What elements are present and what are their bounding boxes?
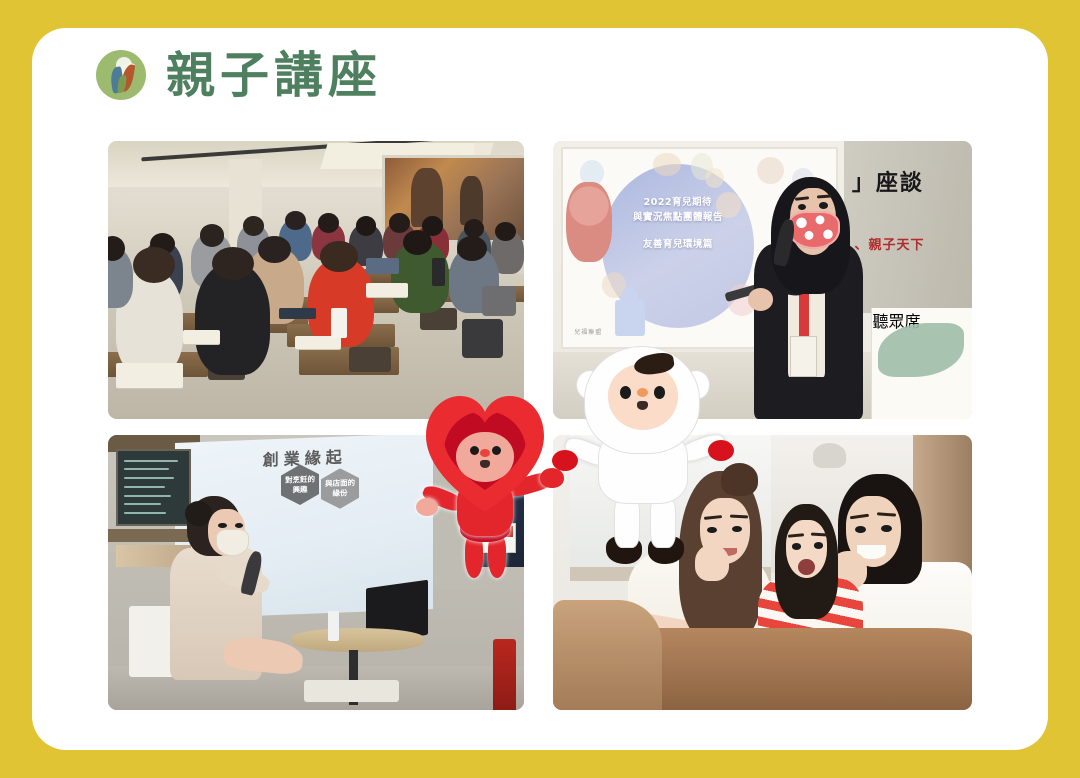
workshop-slide-hexagon-2: 與店面的緣份 xyxy=(320,467,359,509)
photo-speaker-presentation-image: 」座談 、親子天下 00 聽眾席 xyxy=(553,141,972,419)
slide-text: 2022育兒期待 與實況焦點團體報告 友善育兒環境篇 xyxy=(607,196,749,252)
backdrop-subline: 、親子天下 xyxy=(855,234,925,253)
chalkboard-menu xyxy=(116,449,191,526)
photo-speaker-presentation[interactable]: 」座談 、親子天下 00 聽眾席 xyxy=(553,141,972,419)
event-backdrop: 」座談 、親子天下 xyxy=(844,141,972,313)
workshop-speaker-mask xyxy=(216,529,249,557)
photo-lecture-hall[interactable] xyxy=(108,141,524,419)
page-title: 親子講座 xyxy=(166,51,382,100)
workshop-slide-hexagon-1: 對烹飪的興趣 xyxy=(280,464,319,506)
safety-sign xyxy=(482,523,515,553)
photo-workshop-talk[interactable]: 創業緣起 對烹飪的興趣 與店面的緣份 xyxy=(108,435,524,710)
photo-family-portrait[interactable] xyxy=(553,435,972,710)
slide-thumbs-up-icon xyxy=(615,300,645,336)
slide-line-3: 友善育兒環境篇 xyxy=(643,239,713,250)
fire-extinguisher xyxy=(493,639,516,711)
photo-gallery: 」座談 、親子天下 00 聽眾席 xyxy=(108,141,972,710)
slide-line-1: 2022育兒期待 xyxy=(644,197,712,208)
content-card: 親子講座 xyxy=(32,28,1048,750)
photo-workshop-talk-image: 創業緣起 對烹飪的興趣 與店面的緣份 xyxy=(108,435,524,710)
organization-logo-icon xyxy=(96,50,146,100)
slide-teddy-graphic xyxy=(566,182,612,262)
photo-family-portrait-image xyxy=(553,435,972,710)
projector xyxy=(304,680,400,702)
slide-line-2: 與實況焦點團體報告 xyxy=(633,212,723,223)
slide-credit: 兒福聯盟 xyxy=(574,327,602,336)
workshop-slide-title: 創業緣起 xyxy=(262,443,346,470)
photo-lecture-hall-image xyxy=(108,141,524,419)
sanitizer-bottle xyxy=(328,611,339,641)
poster-page: 親子講座 xyxy=(0,0,1080,778)
backdrop-headline: 」座談 xyxy=(852,165,924,197)
page-header: 親子講座 xyxy=(96,50,382,100)
backdrop-standee: 聽眾席 xyxy=(871,308,972,419)
